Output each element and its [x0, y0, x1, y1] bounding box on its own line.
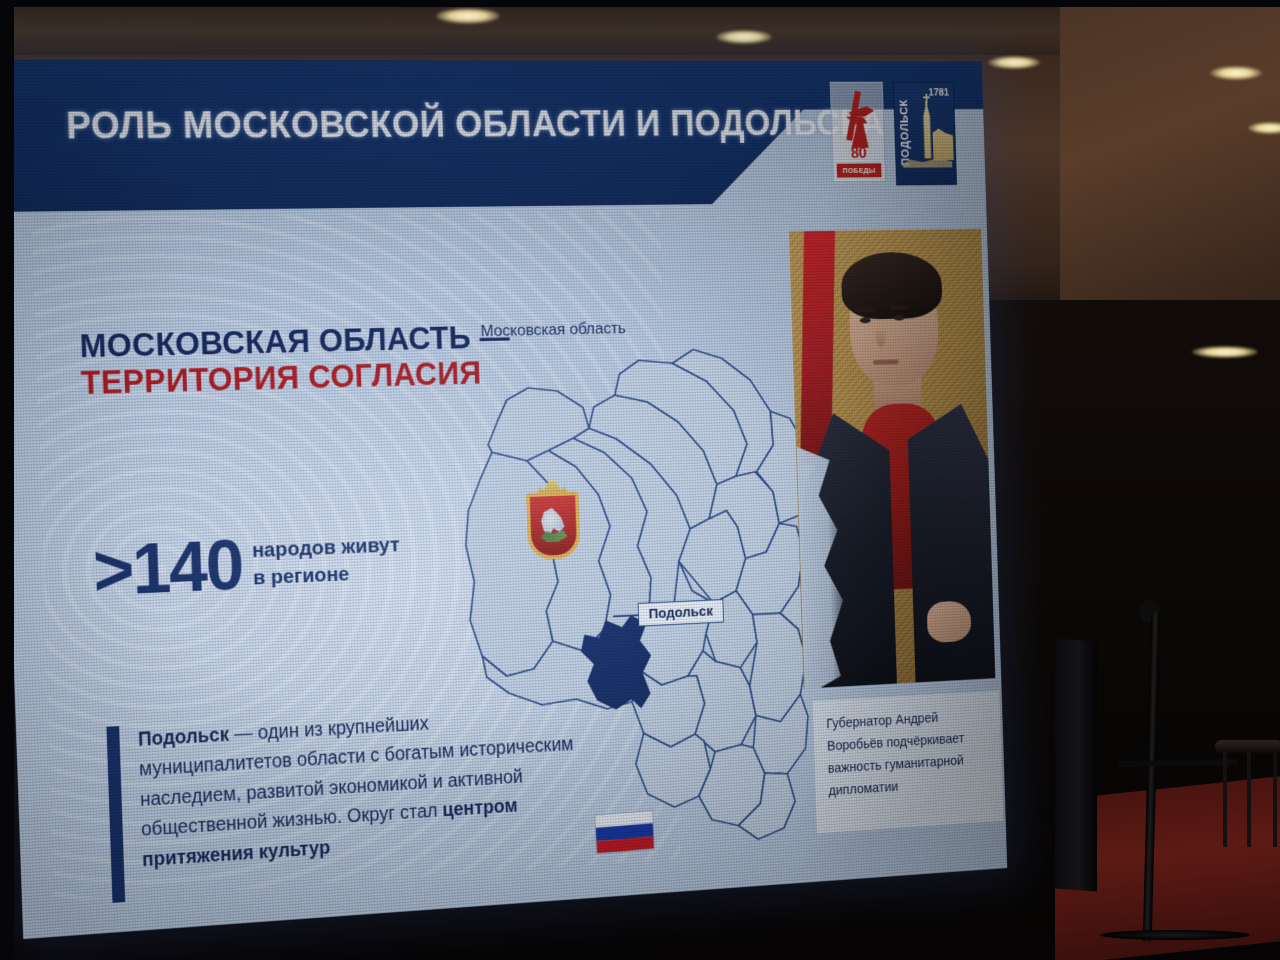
victory-subtitle: ПОБЕДЫ [837, 163, 882, 177]
governor-portrait-photo [789, 229, 995, 689]
ceiling-light [1210, 66, 1262, 80]
stat-value: >140 [92, 533, 243, 604]
accent-bar [106, 726, 125, 903]
portrait-mouth [873, 359, 899, 364]
population-stat: >140 народов живут в регионе [92, 527, 401, 605]
stat-label-line-2: в регионе [253, 559, 401, 592]
victory-year-number: 80 [833, 144, 885, 163]
stat-label: народов живут в регионе [252, 532, 401, 592]
stool-leg [1223, 752, 1227, 847]
russian-flag-icon [594, 810, 655, 855]
portrait-hand [927, 600, 972, 643]
auditorium-room: РОЛЬ МОСКОВСКОЙ ОБЛАСТИ И ПОДОЛЬСКА 80 П… [0, 0, 1280, 960]
ceiling-light [1192, 346, 1258, 358]
governor-caption: Губернатор Андрей Воробьёв подчёркивает … [813, 691, 1004, 834]
podolsk-founding-year: 1781 [928, 87, 949, 98]
screen-bezel-left [0, 0, 14, 960]
podolsk-description-block: Подольск — один из крупнейших муниципали… [106, 701, 582, 903]
moscow-oblast-coat-of-arms-icon [526, 478, 581, 560]
led-screen[interactable]: РОЛЬ МОСКОВСКОЙ ОБЛАСТИ И ПОДОЛЬСКА 80 П… [0, 60, 1007, 939]
podolsk-map-label: Подольск [638, 599, 724, 627]
stool-leg [1273, 752, 1277, 847]
podolsk-city-logo: ПОДОЛЬСК 1781 [893, 82, 957, 186]
stage-stool [1215, 740, 1280, 845]
church-tower-icon [920, 101, 934, 158]
led-screen-assembly: РОЛЬ МОСКОВСКОЙ ОБЛАСТИ И ПОДОЛЬСКА 80 П… [0, 0, 1105, 960]
slide-headline: МОСКОВСКАЯ ОБЛАСТЬ — ТЕРРИТОРИЯ СОГЛАСИЯ [79, 319, 512, 401]
description-bold-lead: Подольск [138, 724, 230, 751]
victory-80-logo: 80 ПОБЕДЫ [830, 82, 886, 183]
screen-bezel-top [0, 0, 1280, 7]
portrait-eyebrow [890, 306, 909, 310]
portrait-nose [875, 326, 886, 347]
stool-leg [1247, 752, 1251, 847]
page-title: РОЛЬ МОСКОВСКОЙ ОБЛАСТИ И ПОДОЛЬСКА [65, 104, 884, 148]
microphone-stand-base [1100, 930, 1250, 940]
presentation-slide: РОЛЬ МОСКОВСКОЙ ОБЛАСТИ И ПОДОЛЬСКА 80 П… [0, 60, 1007, 939]
church-body-icon [932, 125, 953, 160]
portrait-eyebrow [856, 308, 875, 312]
podolsk-description-text: Подольск — один из крупнейших муниципали… [138, 701, 582, 901]
logo-group: 80 ПОБЕДЫ ПОДОЛЬСК 1781 [830, 82, 957, 186]
